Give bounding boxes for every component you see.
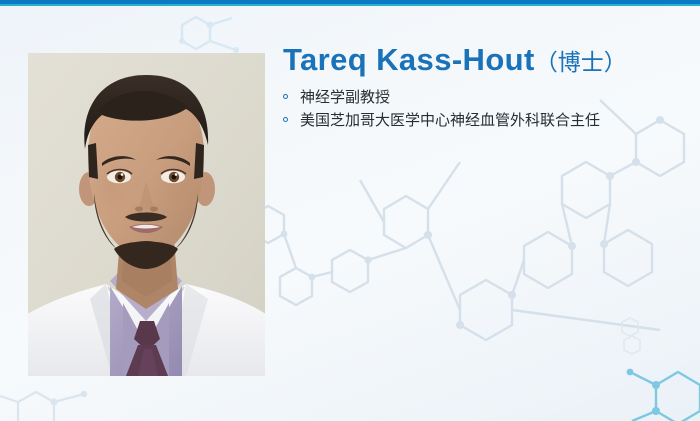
ring-bullet-icon [283,94,288,99]
person-degree: （博士） [535,49,627,75]
credentials-list: 神经学副教授 美国芝加哥大医学中心神经血管外科联合主任 [283,86,683,132]
list-item: 神经学副教授 [283,86,683,109]
person-info-block: Tareq Kass-Hout（博士） 神经学副教授 美国芝加哥大医学中心神经血… [283,44,683,132]
page-title: Tareq Kass-Hout（博士） [283,44,683,77]
credential-text: 美国芝加哥大医学中心神经血管外科联合主任 [300,112,600,129]
top-accent-line [0,4,700,6]
credential-text: 神经学副教授 [300,89,390,106]
presentation-slide: Tareq Kass-Hout（博士） 神经学副教授 美国芝加哥大医学中心神经血… [0,0,700,421]
portrait-photo [28,53,265,376]
list-item: 美国芝加哥大医学中心神经血管外科联合主任 [283,109,683,132]
ring-bullet-icon [283,117,288,122]
portrait-photo-frame [28,53,265,376]
person-name-latin: Tareq Kass-Hout [283,42,535,77]
